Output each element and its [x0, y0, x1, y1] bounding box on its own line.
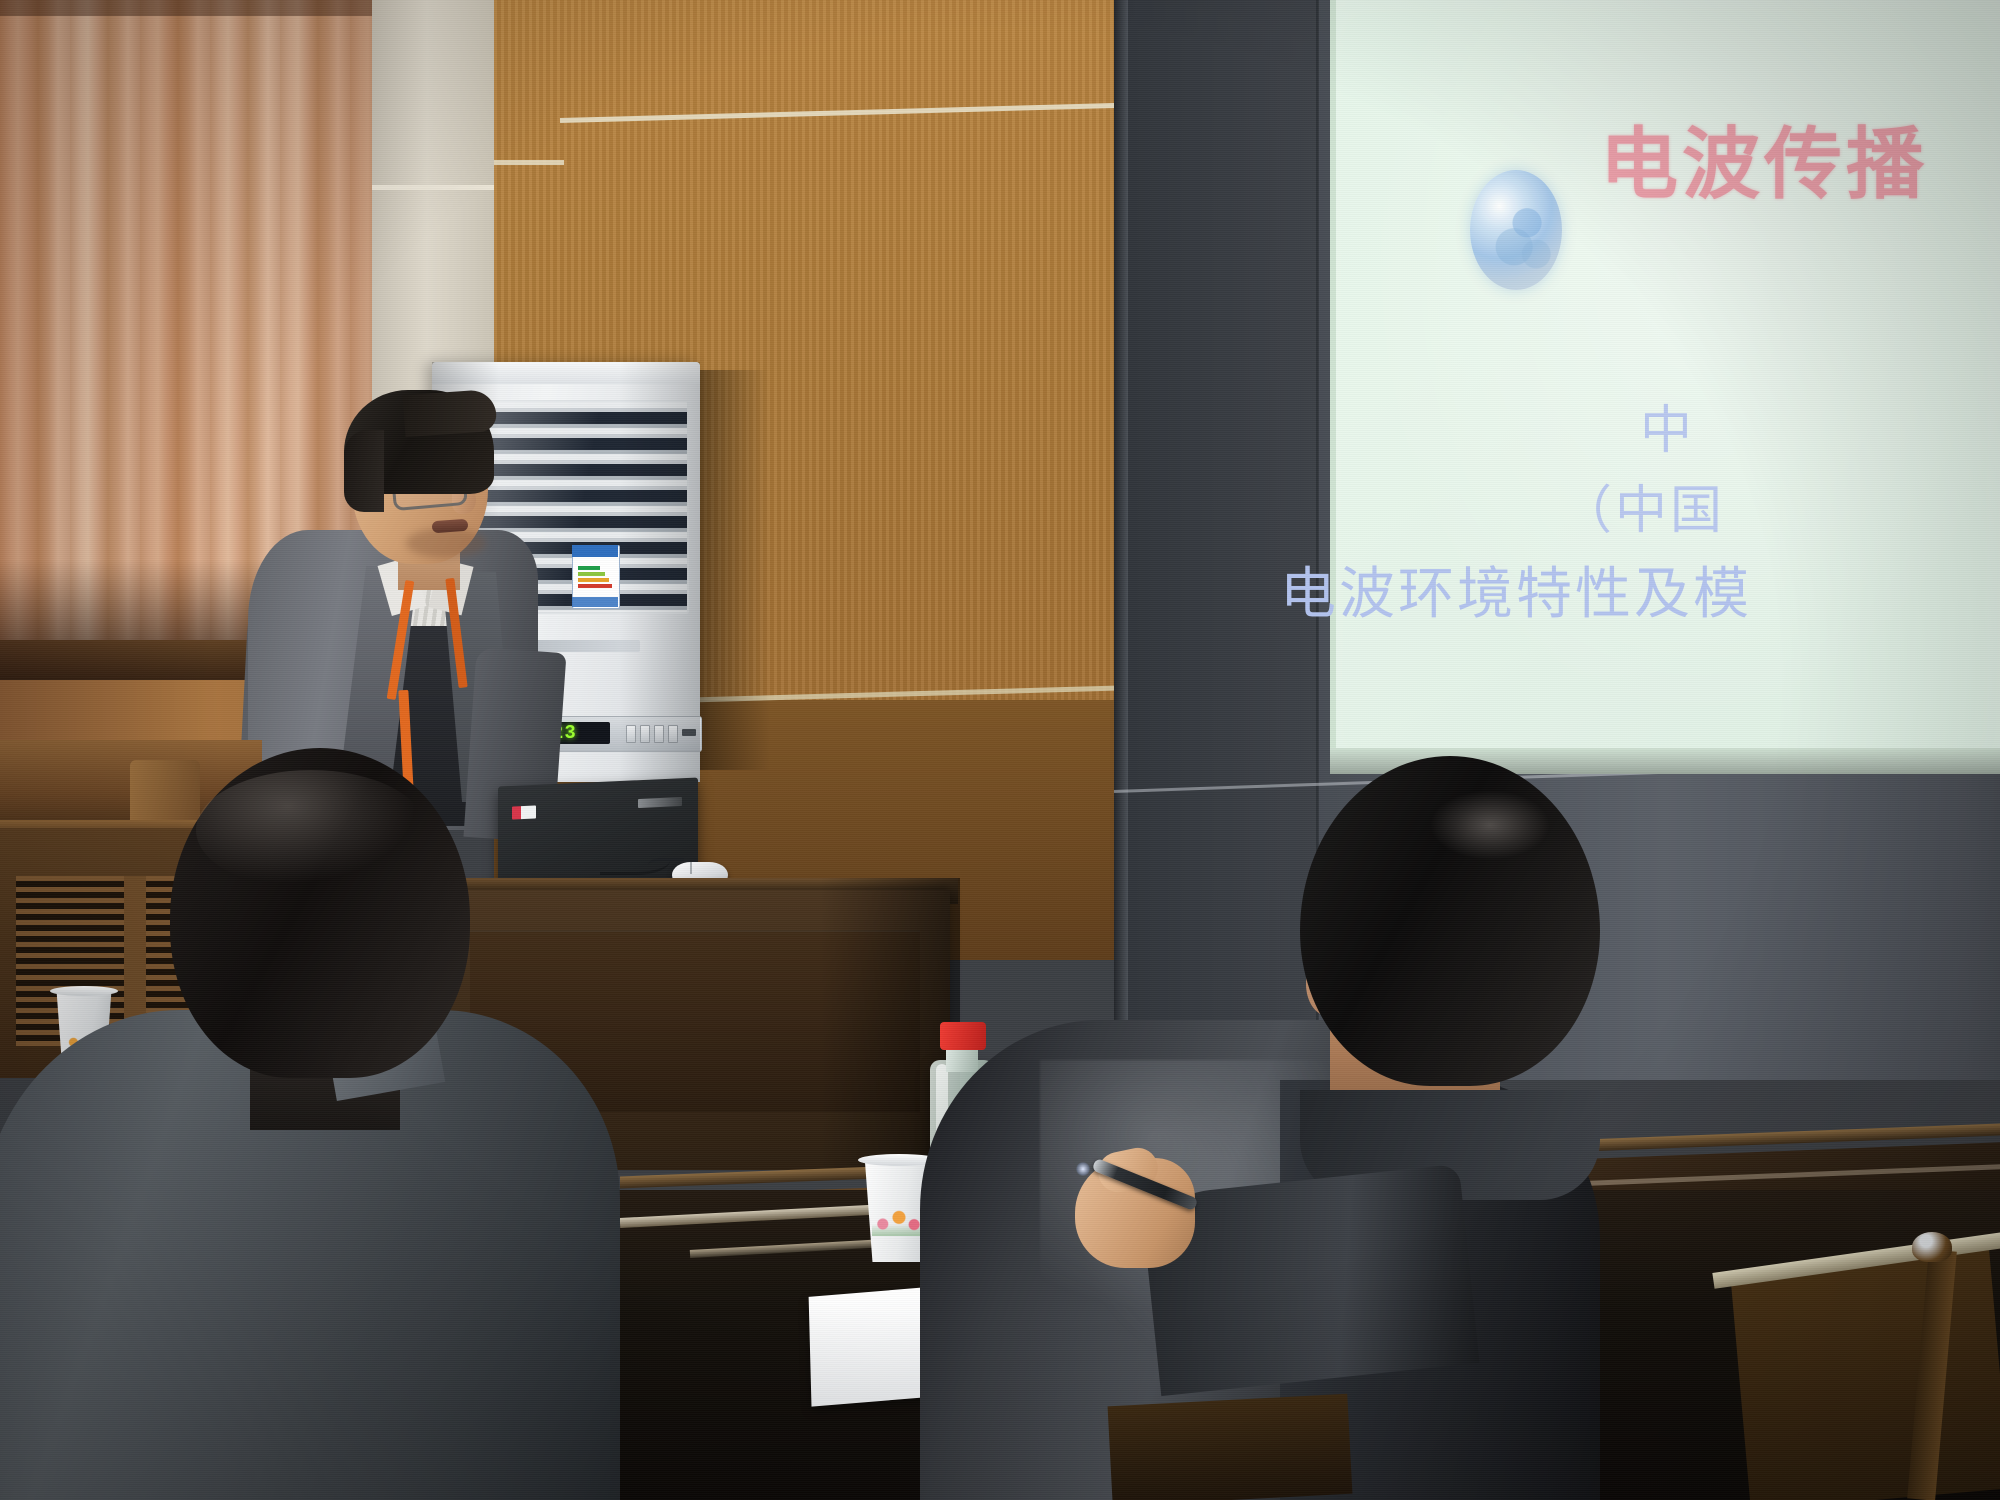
slide-title: 电波传播	[1600, 120, 2000, 210]
conference-room-photo: 电波传播 中 （中国 电波环境特性及模 23	[0, 0, 2000, 1500]
laptop-sticker	[512, 805, 536, 819]
paper-cup-left-rim	[50, 986, 118, 996]
globe-icon-landmass	[1470, 170, 1562, 290]
computer-mouse-seam	[690, 862, 692, 874]
wooden-chair-back[interactable]	[1730, 1249, 2000, 1500]
slide-line-3: 电波环境特性及模	[1280, 560, 2000, 627]
water-bottle-cap[interactable]	[940, 1022, 986, 1050]
slide-line-1: 中	[1640, 400, 2000, 462]
speaker-hair-fringe	[403, 389, 498, 437]
wood-wall-seam-short	[494, 160, 564, 165]
pen-tip-glint	[1076, 1162, 1090, 1176]
attendee-right-hair-whorl	[1430, 790, 1550, 860]
curtain-rail	[0, 0, 372, 16]
grey-wall-column-edge	[1114, 0, 1128, 1080]
paper-cup-floral-pattern	[872, 1206, 926, 1236]
wooden-chair-knob	[1912, 1232, 1952, 1262]
wooden-chair-left[interactable]	[1108, 1394, 1353, 1500]
slide-line-2: （中国	[1560, 480, 2000, 542]
speaker-hair-side	[344, 430, 384, 512]
speaker-mouth	[432, 519, 469, 533]
attendee-left-hair-highlight	[196, 770, 426, 890]
speaker-chin-shadow	[406, 528, 486, 558]
air-conditioner-shadow	[700, 370, 770, 770]
wall-pillar-seam	[372, 185, 494, 190]
grey-wall-column	[1128, 0, 1318, 1080]
projection-screen-glow	[1330, 0, 2000, 770]
